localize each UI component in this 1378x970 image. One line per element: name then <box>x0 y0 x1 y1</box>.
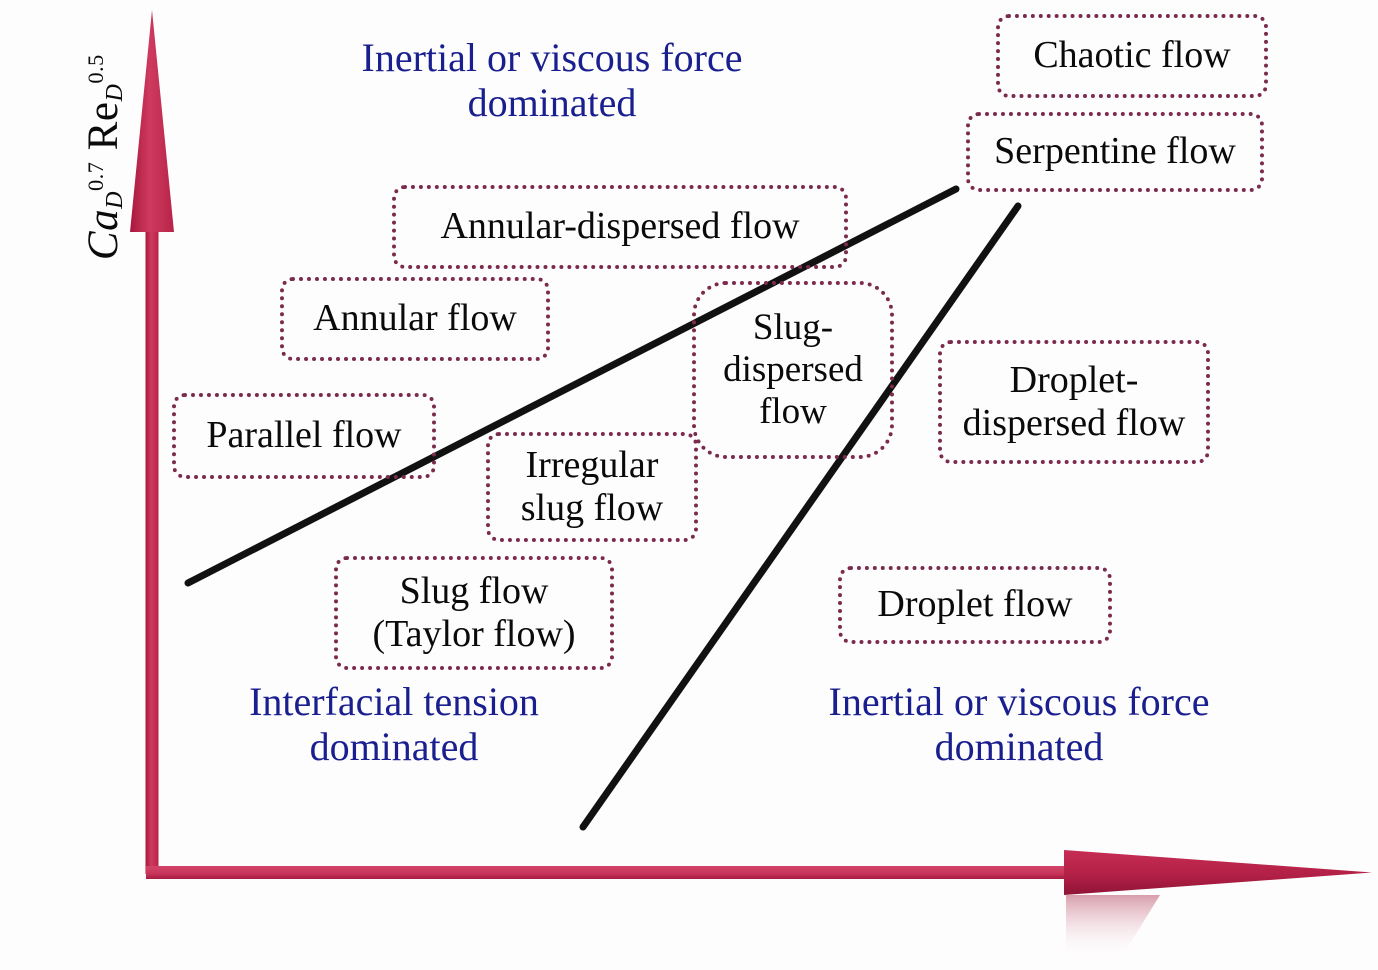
flow-box-slug-taylor-flow: Slug flow (Taylor flow) <box>334 556 614 670</box>
y-axis-label-ca: Ca <box>80 209 127 260</box>
flow-box-annular-flow: Annular flow <box>280 277 550 361</box>
x-axis-shaft <box>146 866 1066 879</box>
y-axis-label-re: Re <box>80 102 127 151</box>
x-axis-arrowhead <box>1064 850 1372 895</box>
y-axis-label: CaD0.7 ReD0.5 <box>79 7 129 307</box>
y-axis-label-ca-sup: 0.7 <box>83 162 108 191</box>
y-axis-arrowhead <box>130 10 174 232</box>
x-axis-arrow-shadow <box>1066 895 1160 960</box>
flow-box-slug-dispersed-flow: Slug- dispersed flow <box>692 281 894 459</box>
y-axis-label-re-sup: 0.5 <box>83 54 108 83</box>
flow-box-droplet-dispersed-flow: Droplet- dispersed flow <box>938 340 1210 464</box>
flow-box-parallel-flow: Parallel flow <box>172 393 436 479</box>
y-axis-label-ca-sub: D <box>102 191 128 209</box>
flow-regime-map-figure: CaD0.7 ReD0.5 Inertial or viscous force … <box>0 0 1378 970</box>
flow-box-irregular-slug-flow: Irregular slug flow <box>486 432 698 542</box>
region-label-top-left: Inertial or viscous force dominated <box>252 36 852 126</box>
flow-box-serpentine-flow: Serpentine flow <box>966 112 1264 192</box>
region-label-bottom-left: Interfacial tension dominated <box>172 680 616 770</box>
y-axis-label-re-sub: D <box>102 84 128 102</box>
flow-box-chaotic-flow: Chaotic flow <box>996 14 1268 98</box>
flow-box-droplet-flow: Droplet flow <box>838 566 1112 644</box>
y-axis-shaft <box>146 228 159 874</box>
region-label-bottom-right: Inertial or viscous force dominated <box>740 680 1298 770</box>
flow-box-annular-dispersed-flow: Annular-dispersed flow <box>392 185 848 269</box>
